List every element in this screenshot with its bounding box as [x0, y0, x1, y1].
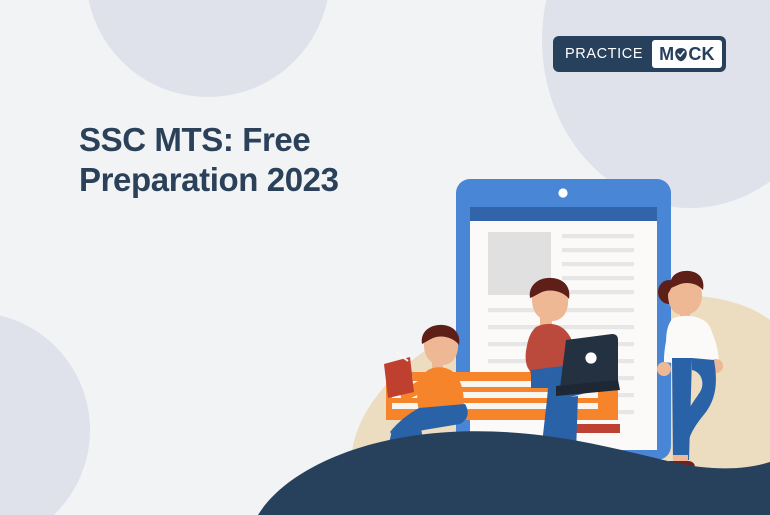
headline-text: SSC MTS: Free Preparation 2023 [79, 120, 409, 201]
book-cover [384, 357, 414, 398]
logo-mock-plate: M CK [652, 40, 722, 68]
logo-mock-ck: CK [688, 45, 714, 63]
check-shield-icon [674, 47, 688, 62]
logo-mock-m: M [659, 45, 674, 63]
page-title: SSC MTS: Free Preparation 2023 [79, 120, 409, 201]
logo-practice-text: PRACTICE [557, 40, 652, 68]
laptop [556, 334, 620, 396]
practicemock-logo[interactable]: PRACTICE M CK [553, 36, 726, 72]
person-right-hand-left [657, 362, 671, 376]
study-group-tablet-illustration [0, 0, 770, 515]
book [384, 352, 414, 398]
laptop-logo-dot [585, 352, 596, 363]
tablet-header-bar [470, 207, 657, 221]
tablet-camera-dot [558, 188, 567, 197]
banner-root: SSC MTS: Free Preparation 2023 PRACTICE … [0, 0, 770, 515]
